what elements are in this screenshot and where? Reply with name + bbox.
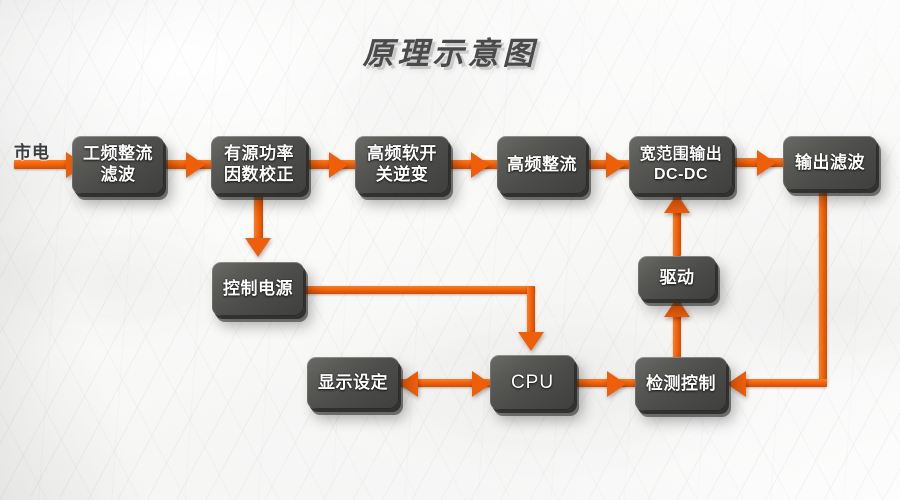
node-power-frequency-rectifier-filter[interactable]: 工频整流 滤波 [72,136,164,194]
node-high-frequency-rectification[interactable]: 高频整流 [497,136,587,194]
wire-n7-to-cpu-vertical [527,286,535,338]
node-detection-control[interactable]: 检测控制 [635,357,727,411]
node-label: 控制电源 [217,279,299,300]
node-wide-range-output-dcdc[interactable]: 宽范围输出 DC-DC [629,136,733,194]
arrowhead-n11-to-n8 [664,298,690,317]
wire-n7-to-cpu-horizontal [300,286,535,294]
node-label: 有源功率 因数校正 [218,144,300,185]
diagram-canvas: 原理示意图 市电 工频整流 滤波 有源功率 因数校正 高频软开 关逆变 [0,0,900,500]
node-label: 高频软开 关逆变 [361,144,443,185]
arrowhead-n3-to-n4 [471,152,490,178]
node-label: CPU [505,371,560,394]
arrowhead-n7-to-cpu [518,332,544,351]
node-high-frequency-soft-switching-inverter[interactable]: 高频软开 关逆变 [355,136,449,194]
node-label: 显示设定 [312,373,394,394]
arrowhead-display-to-cpu [472,371,491,397]
node-label: 驱动 [654,268,701,289]
wire-n6-to-n11-vertical [819,188,827,380]
arrowhead-n2-to-n3 [329,152,348,178]
node-label: 工频整流 滤波 [77,144,159,185]
node-label: 检测控制 [640,374,722,395]
arrowhead-cpu-to-display [399,371,418,397]
node-label: 高频整流 [501,155,583,176]
arrowhead-n4-to-n5 [606,152,625,178]
arrowhead-n1-to-n2 [186,152,205,178]
node-control-power-supply[interactable]: 控制电源 [212,262,304,316]
arrowhead-n5-to-n6 [757,150,776,176]
page-title: 原理示意图 [0,28,900,73]
arrowhead-cpu-to-n11 [607,371,626,397]
arrowhead-n6-to-n11 [727,371,746,397]
node-drive[interactable]: 驱动 [638,256,716,300]
node-label: 输出滤波 [789,153,871,174]
mains-power-label: 市电 [14,138,50,163]
wire-cpu-to-n11 [575,379,637,387]
wire-n6-to-n11-horizontal [745,379,827,387]
arrowhead-n8-to-n5 [664,194,690,213]
node-cpu[interactable]: CPU [490,355,575,410]
node-active-power-factor-correction[interactable]: 有源功率 因数校正 [211,136,307,194]
node-output-filter[interactable]: 输出滤波 [783,136,877,190]
arrowhead-n2-to-n7 [245,238,271,257]
node-label: 宽范围输出 DC-DC [634,145,729,184]
wire-n2-to-n7 [254,192,263,244]
node-display-setting[interactable]: 显示设定 [307,357,399,409]
